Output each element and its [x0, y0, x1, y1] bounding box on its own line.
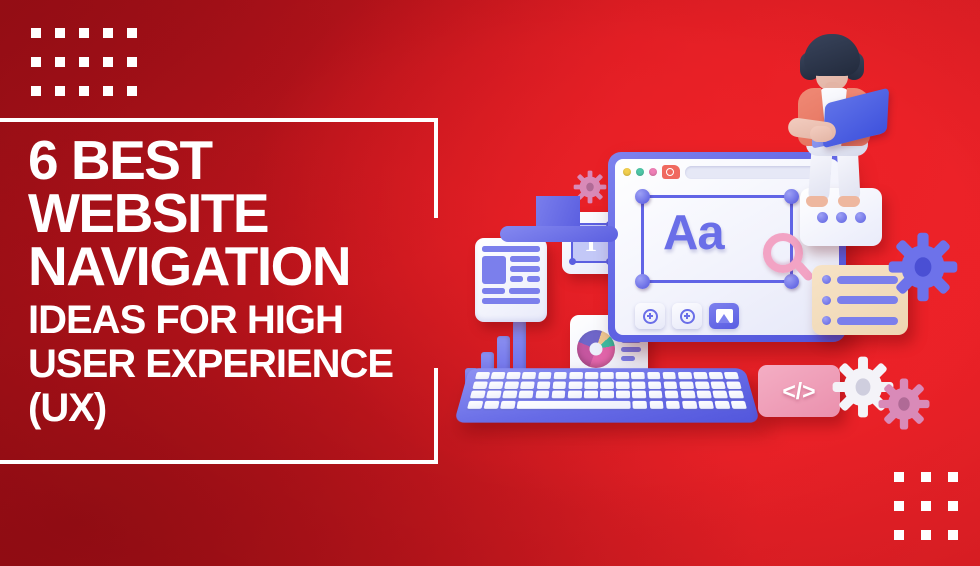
keyboard-keys	[467, 372, 747, 409]
wireframe-bar	[482, 246, 540, 252]
key[interactable]	[709, 372, 724, 379]
headline-line-5: USER EXPERIENCE	[28, 342, 448, 386]
list-item	[822, 275, 898, 284]
key[interactable]	[680, 391, 695, 399]
dot	[31, 57, 41, 67]
headline-line-2: WEBSITE	[28, 187, 448, 240]
key[interactable]	[467, 401, 483, 409]
keyboard[interactable]	[454, 368, 760, 422]
selection-handle-icon[interactable]	[635, 274, 650, 289]
page-title: 6 BEST WEBSITE NAVIGATION IDEAS FOR HIGH…	[28, 134, 448, 430]
character-foot	[838, 196, 860, 207]
character-foot	[806, 196, 828, 207]
legend-line	[621, 347, 641, 352]
wireframe-bar	[510, 266, 540, 272]
chat-dot-icon	[855, 212, 866, 223]
designer-character	[770, 28, 900, 208]
key[interactable]	[695, 381, 710, 388]
browser-dot-pink-icon	[649, 168, 657, 176]
code-card: </>	[758, 365, 840, 417]
key[interactable]	[535, 391, 550, 399]
key[interactable]	[696, 391, 711, 399]
key[interactable]	[616, 391, 630, 399]
key[interactable]	[522, 372, 536, 379]
chat-dot-icon	[836, 212, 847, 223]
canvas-text: Aa	[663, 209, 724, 258]
wireframe-bar	[510, 256, 540, 262]
key[interactable]	[693, 372, 708, 379]
dot	[948, 501, 958, 511]
bullet-icon	[822, 275, 831, 284]
cursor-tag-icon	[662, 165, 680, 179]
dot	[103, 28, 113, 38]
key[interactable]	[500, 401, 515, 409]
key[interactable]	[584, 391, 598, 399]
key[interactable]	[553, 372, 567, 379]
dot	[31, 28, 41, 38]
wireframe-bar	[509, 288, 541, 294]
key[interactable]	[484, 401, 500, 409]
image-icon	[716, 309, 733, 323]
key[interactable]	[698, 401, 713, 409]
key[interactable]	[600, 391, 614, 399]
wireframe-bar	[482, 298, 540, 304]
dot-grid-bottom-right	[894, 472, 958, 540]
insert-image-button[interactable]	[709, 303, 739, 329]
canvas-toolbar	[635, 303, 739, 329]
key[interactable]	[647, 372, 661, 379]
dot	[894, 530, 904, 540]
key[interactable]	[551, 391, 565, 399]
banner-canvas: 6 BEST WEBSITE NAVIGATION IDEAS FOR HIGH…	[0, 0, 980, 566]
wireframe-row	[482, 256, 540, 284]
dot	[127, 28, 137, 38]
key[interactable]	[568, 381, 582, 388]
dot	[55, 28, 65, 38]
gear-large-blue-icon	[888, 232, 958, 302]
headline-line-1: 6 BEST	[28, 134, 448, 187]
wireframe-col	[510, 256, 540, 284]
key[interactable]	[724, 372, 739, 379]
key[interactable]	[666, 401, 681, 409]
key[interactable]	[506, 372, 521, 379]
headline-line-4: IDEAS FOR HIGH	[28, 298, 448, 342]
key[interactable]	[715, 401, 731, 409]
key[interactable]	[662, 372, 676, 379]
key[interactable]	[726, 381, 741, 388]
key[interactable]	[486, 391, 501, 399]
chat-dot-icon	[817, 212, 828, 223]
wireframe-block	[482, 256, 506, 284]
key[interactable]	[616, 381, 630, 388]
dot	[127, 86, 137, 96]
key[interactable]	[648, 381, 662, 388]
key[interactable]	[713, 391, 728, 399]
hero-illustration: T	[440, 10, 980, 470]
key[interactable]	[678, 372, 692, 379]
legend-line	[621, 356, 635, 361]
key[interactable]	[519, 391, 534, 399]
key[interactable]	[663, 381, 677, 388]
headline-line-6: (UX)	[28, 386, 448, 430]
dot	[127, 57, 137, 67]
dot	[31, 86, 41, 96]
list-line	[837, 317, 898, 325]
browser-dot-yellow-icon	[623, 168, 631, 176]
wireframe-row	[510, 276, 540, 282]
dot	[894, 472, 904, 482]
wireframe-bar	[527, 276, 540, 282]
key[interactable]	[585, 372, 598, 379]
spacebar-key[interactable]	[517, 401, 631, 409]
key[interactable]	[731, 401, 747, 409]
add-point-button[interactable]	[672, 303, 702, 329]
add-node-button[interactable]	[635, 303, 665, 329]
key[interactable]	[520, 381, 535, 388]
key[interactable]	[488, 381, 503, 388]
key[interactable]	[729, 391, 745, 399]
key[interactable]	[470, 391, 486, 399]
key[interactable]	[552, 381, 566, 388]
plus-circle-icon	[680, 309, 695, 324]
key[interactable]	[632, 391, 646, 399]
key[interactable]	[631, 372, 645, 379]
list-item	[822, 316, 898, 325]
key[interactable]	[504, 381, 519, 388]
frame-line-bottom	[0, 460, 438, 464]
character-hand	[810, 126, 832, 142]
dot	[894, 501, 904, 511]
dot-grid-top-left	[31, 28, 137, 96]
dot	[55, 57, 65, 67]
key[interactable]	[600, 381, 614, 388]
key[interactable]	[491, 372, 506, 379]
key[interactable]	[664, 391, 679, 399]
dot	[103, 57, 113, 67]
key[interactable]	[569, 372, 583, 379]
dot	[948, 530, 958, 540]
key[interactable]	[649, 401, 664, 409]
key[interactable]	[711, 381, 726, 388]
browser-dot-teal-icon	[636, 168, 644, 176]
wireframe-bar	[510, 276, 523, 282]
key[interactable]	[584, 381, 598, 388]
key[interactable]	[633, 401, 647, 409]
headline-line-3: NAVIGATION	[28, 240, 448, 293]
dot	[79, 86, 89, 96]
magnifier-icon	[763, 233, 803, 273]
selection-handle-icon[interactable]	[784, 274, 799, 289]
key[interactable]	[679, 381, 694, 388]
selection-handle-icon[interactable]	[635, 189, 650, 204]
list-item	[822, 296, 898, 305]
gear-pink-icon	[878, 378, 930, 430]
code-card-label: </>	[782, 378, 815, 405]
dot	[921, 501, 931, 511]
dot	[921, 530, 931, 540]
wireframe-row	[482, 288, 540, 294]
key[interactable]	[682, 401, 697, 409]
key[interactable]	[538, 372, 552, 379]
dot	[948, 472, 958, 482]
monitor-base	[500, 226, 618, 242]
key[interactable]	[475, 372, 490, 379]
plus-circle-icon	[643, 309, 658, 324]
key[interactable]	[648, 391, 662, 399]
bullet-icon	[822, 296, 831, 305]
character-hair	[804, 34, 860, 76]
dot	[103, 86, 113, 96]
wireframe-card	[475, 238, 547, 322]
wireframe-bar	[482, 288, 505, 294]
key[interactable]	[616, 372, 629, 379]
dot	[55, 86, 65, 96]
key[interactable]	[632, 381, 646, 388]
dot	[79, 28, 89, 38]
key[interactable]	[568, 391, 582, 399]
key[interactable]	[472, 381, 487, 388]
dot	[79, 57, 89, 67]
key[interactable]	[536, 381, 550, 388]
bullet-icon	[822, 316, 831, 325]
handle-icon	[569, 258, 576, 265]
frame-line-top	[0, 118, 438, 122]
dot	[921, 472, 931, 482]
key[interactable]	[502, 391, 517, 399]
key[interactable]	[600, 372, 613, 379]
